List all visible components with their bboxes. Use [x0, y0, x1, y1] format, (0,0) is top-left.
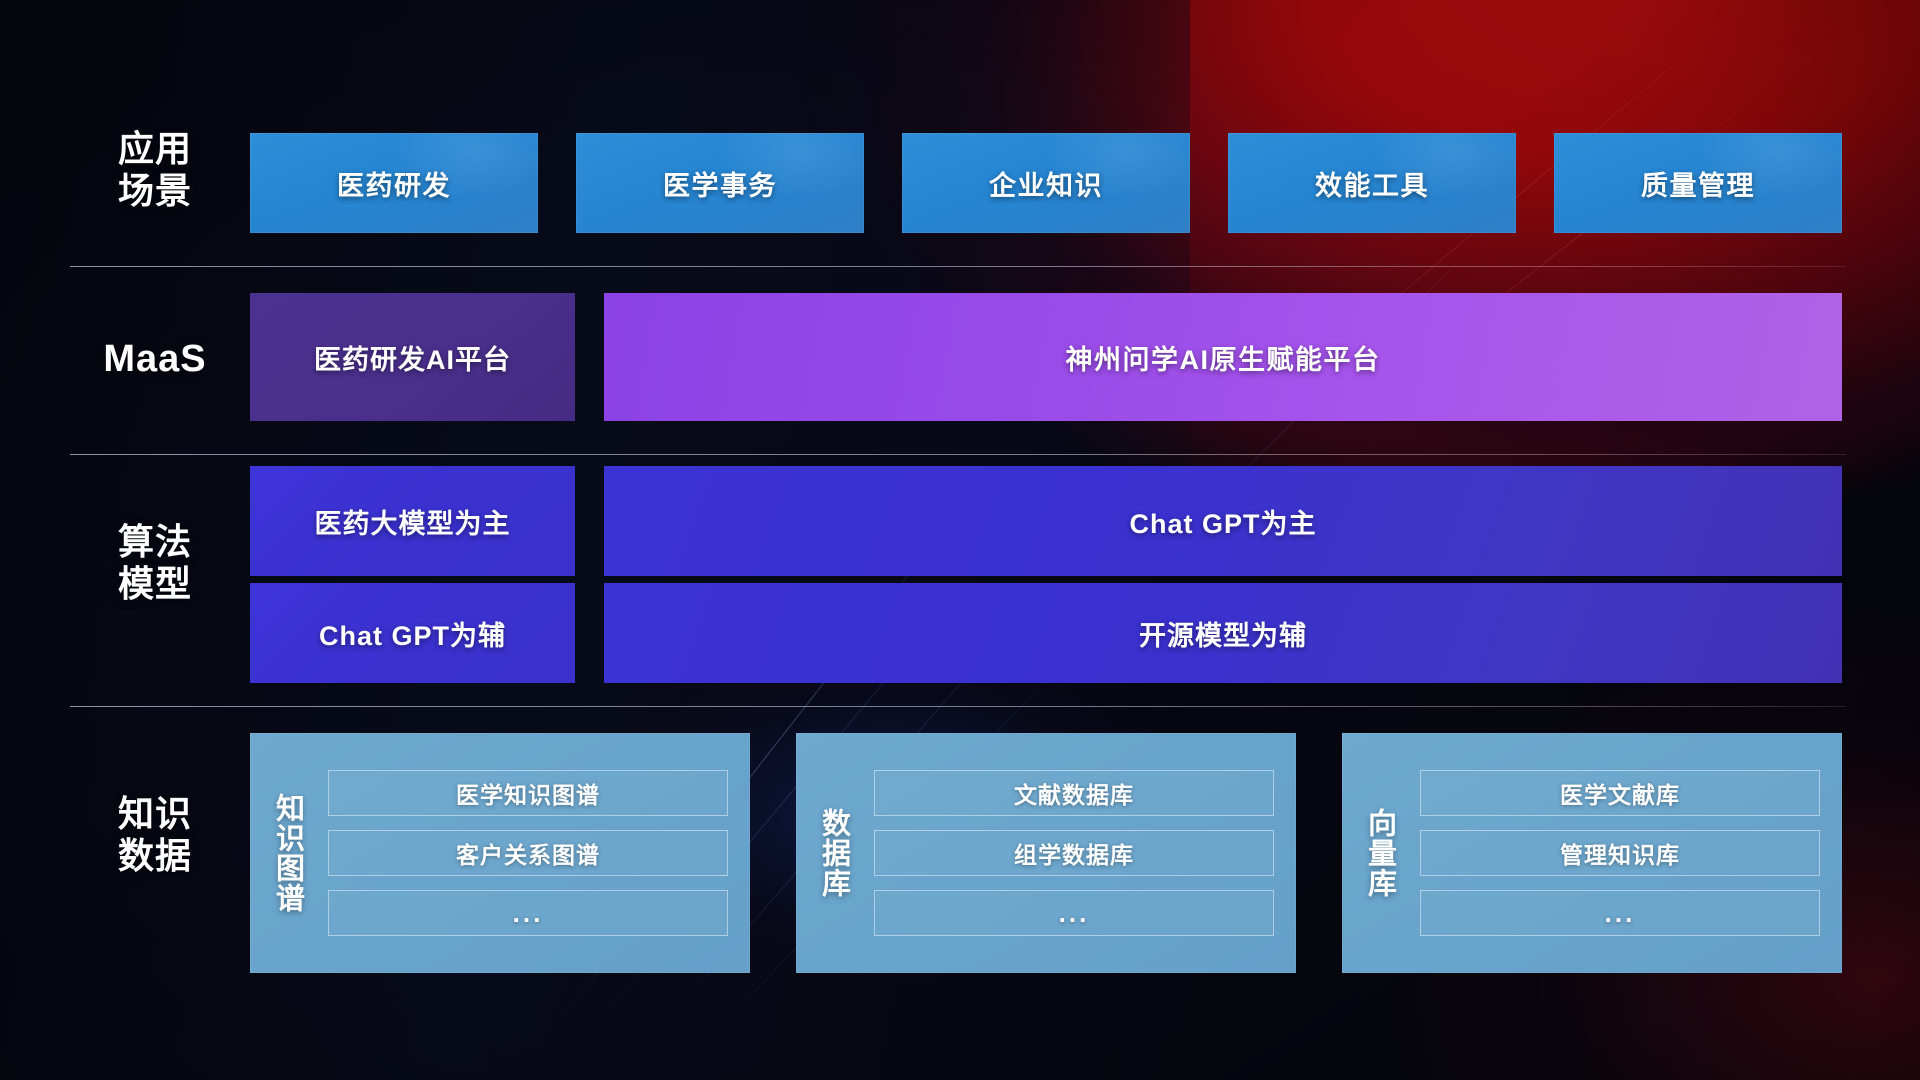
- app-box-efficiency-tools[interactable]: 效能工具: [1228, 133, 1516, 233]
- knowledge-item-more[interactable]: ...: [874, 890, 1274, 936]
- app-box-label: 效能工具: [1315, 164, 1429, 203]
- algo-box-label: 开源模型为辅: [1139, 614, 1307, 653]
- algo-box-opensource-secondary[interactable]: 开源模型为辅: [604, 583, 1842, 683]
- algo-box-label: 医药大模型为主: [315, 502, 511, 541]
- knowledge-group-title: 向量库: [1342, 733, 1416, 973]
- knowledge-group-items: 文献数据库 组学数据库 ...: [870, 733, 1296, 973]
- knowledge-item[interactable]: 文献数据库: [874, 770, 1274, 816]
- knowledge-item[interactable]: 医学知识图谱: [328, 770, 728, 816]
- row-label-maas-text: MaaS: [60, 337, 250, 382]
- knowledge-item-more[interactable]: ...: [1420, 890, 1820, 936]
- slide-canvas: 应用 场景 医药研发 医学事务 企业知识 效能工具 质量管理 MaaS 医药研发…: [0, 0, 1920, 1080]
- algo-box-label: Chat GPT为主: [1129, 502, 1316, 541]
- knowledge-group-vector-store[interactable]: 向量库 医学文献库 管理知识库 ...: [1342, 733, 1842, 973]
- row-label-application: 应用 场景: [60, 128, 250, 213]
- diagram-content: 应用 场景 医药研发 医学事务 企业知识 效能工具 质量管理 MaaS 医药研发…: [0, 0, 1920, 1080]
- row-label-algorithm-line2: 模型: [60, 563, 250, 605]
- app-box-pharma-rd[interactable]: 医药研发: [250, 133, 538, 233]
- knowledge-group-title: 数据库: [796, 733, 870, 973]
- app-box-enterprise-knowledge[interactable]: 企业知识: [902, 133, 1190, 233]
- row-label-algorithm-line1: 算法: [60, 521, 250, 563]
- knowledge-item[interactable]: 客户关系图谱: [328, 830, 728, 876]
- row-label-knowledge: 知识 数据: [60, 793, 250, 878]
- knowledge-group-items: 医学知识图谱 客户关系图谱 ...: [324, 733, 750, 973]
- maas-box-shenzhou-wenxue-platform[interactable]: 神州问学AI原生赋能平台: [604, 293, 1842, 421]
- app-box-label: 企业知识: [989, 164, 1103, 203]
- row-label-application-line2: 场景: [60, 170, 250, 212]
- maas-box-pharma-ai-platform[interactable]: 医药研发AI平台: [250, 293, 575, 421]
- app-box-medical-affairs[interactable]: 医学事务: [576, 133, 864, 233]
- knowledge-group-knowledge-graph[interactable]: 知识图谱 医学知识图谱 客户关系图谱 ...: [250, 733, 750, 973]
- knowledge-item[interactable]: 组学数据库: [874, 830, 1274, 876]
- app-box-label: 医药研发: [337, 164, 451, 203]
- app-box-quality-management[interactable]: 质量管理: [1554, 133, 1842, 233]
- maas-box-label: 神州问学AI原生赋能平台: [1066, 338, 1381, 377]
- knowledge-group-title: 知识图谱: [250, 733, 324, 973]
- row-label-knowledge-line2: 数据: [60, 835, 250, 877]
- knowledge-item-more[interactable]: ...: [328, 890, 728, 936]
- row-label-maas: MaaS: [60, 337, 250, 382]
- app-box-label: 质量管理: [1641, 164, 1755, 203]
- divider-algorithm-knowledge: [70, 706, 1846, 707]
- row-label-application-line1: 应用: [60, 128, 250, 170]
- algo-box-chatgpt-secondary[interactable]: Chat GPT为辅: [250, 583, 575, 683]
- divider-application-maas: [70, 266, 1846, 267]
- algo-box-chatgpt-primary[interactable]: Chat GPT为主: [604, 466, 1842, 576]
- knowledge-item[interactable]: 医学文献库: [1420, 770, 1820, 816]
- row-label-algorithm: 算法 模型: [60, 521, 250, 606]
- algo-box-pharma-llm-primary[interactable]: 医药大模型为主: [250, 466, 575, 576]
- knowledge-item[interactable]: 管理知识库: [1420, 830, 1820, 876]
- maas-box-label: 医药研发AI平台: [314, 338, 511, 377]
- algo-box-label: Chat GPT为辅: [319, 614, 506, 653]
- divider-maas-algorithm: [70, 454, 1846, 455]
- app-box-label: 医学事务: [663, 164, 777, 203]
- knowledge-group-database[interactable]: 数据库 文献数据库 组学数据库 ...: [796, 733, 1296, 973]
- knowledge-group-items: 医学文献库 管理知识库 ...: [1416, 733, 1842, 973]
- row-label-knowledge-line1: 知识: [60, 793, 250, 835]
